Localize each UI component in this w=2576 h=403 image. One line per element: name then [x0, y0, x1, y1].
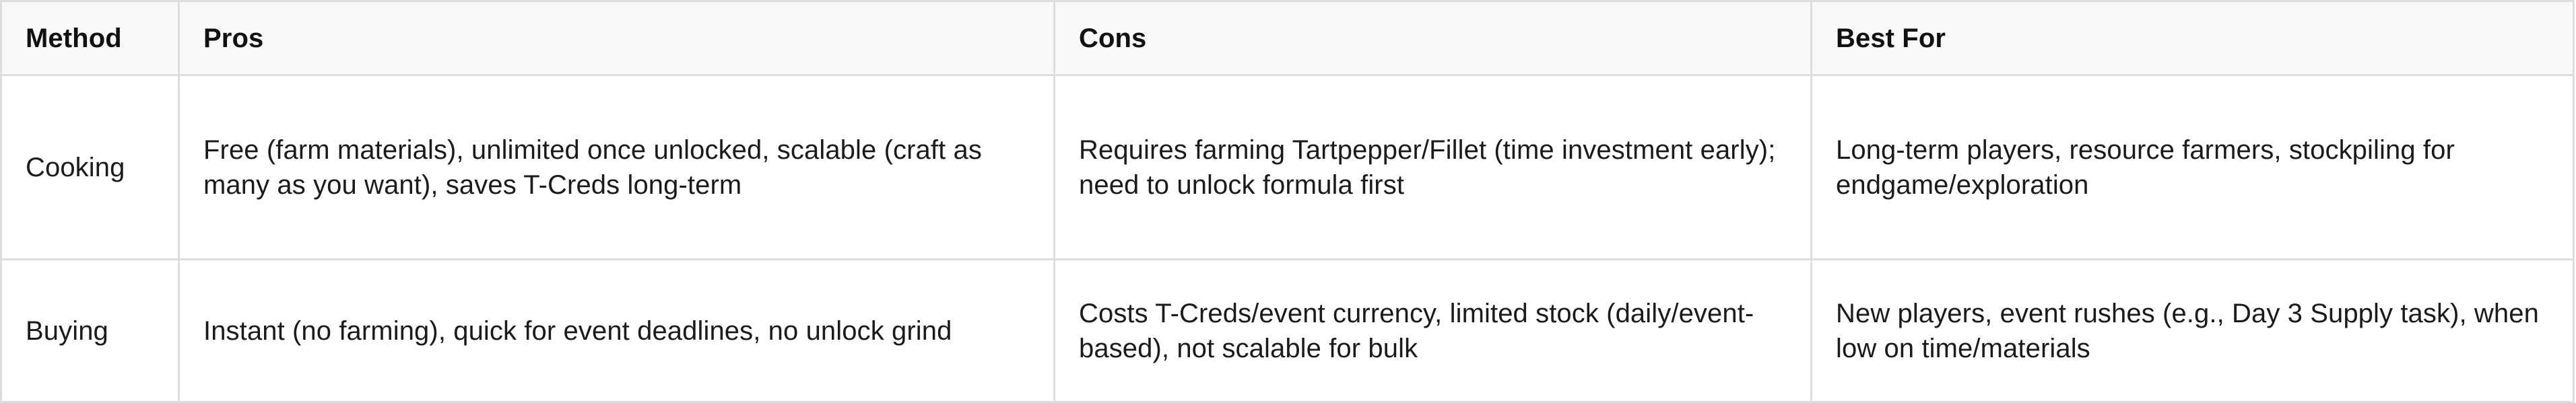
- cell-pros: Instant (no farming), quick for event de…: [179, 260, 1055, 402]
- column-header-method: Method: [1, 1, 179, 75]
- column-header-pros: Pros: [179, 1, 1055, 75]
- cell-pros: Free (farm materials), unlimited once un…: [179, 75, 1055, 260]
- cell-cons: Costs T-Creds/event currency, limited st…: [1055, 260, 1812, 402]
- cell-method: Cooking: [1, 75, 179, 260]
- table-header: Method Pros Cons Best For: [1, 1, 2574, 75]
- table-row: Cooking Free (farm materials), unlimited…: [1, 75, 2574, 260]
- column-header-cons: Cons: [1055, 1, 1812, 75]
- table-body: Cooking Free (farm materials), unlimited…: [1, 75, 2574, 402]
- comparison-table-container: Method Pros Cons Best For Cooking Free (…: [0, 0, 2576, 336]
- comparison-table: Method Pros Cons Best For Cooking Free (…: [0, 0, 2575, 403]
- column-header-best-for: Best For: [1812, 1, 2574, 75]
- cell-best-for: New players, event rushes (e.g., Day 3 S…: [1812, 260, 2574, 402]
- table-header-row: Method Pros Cons Best For: [1, 1, 2574, 75]
- cell-cons: Requires farming Tartpepper/Fillet (time…: [1055, 75, 1812, 260]
- table-row: Buying Instant (no farming), quick for e…: [1, 260, 2574, 402]
- cell-method: Buying: [1, 260, 179, 402]
- cell-best-for: Long-term players, resource farmers, sto…: [1812, 75, 2574, 260]
